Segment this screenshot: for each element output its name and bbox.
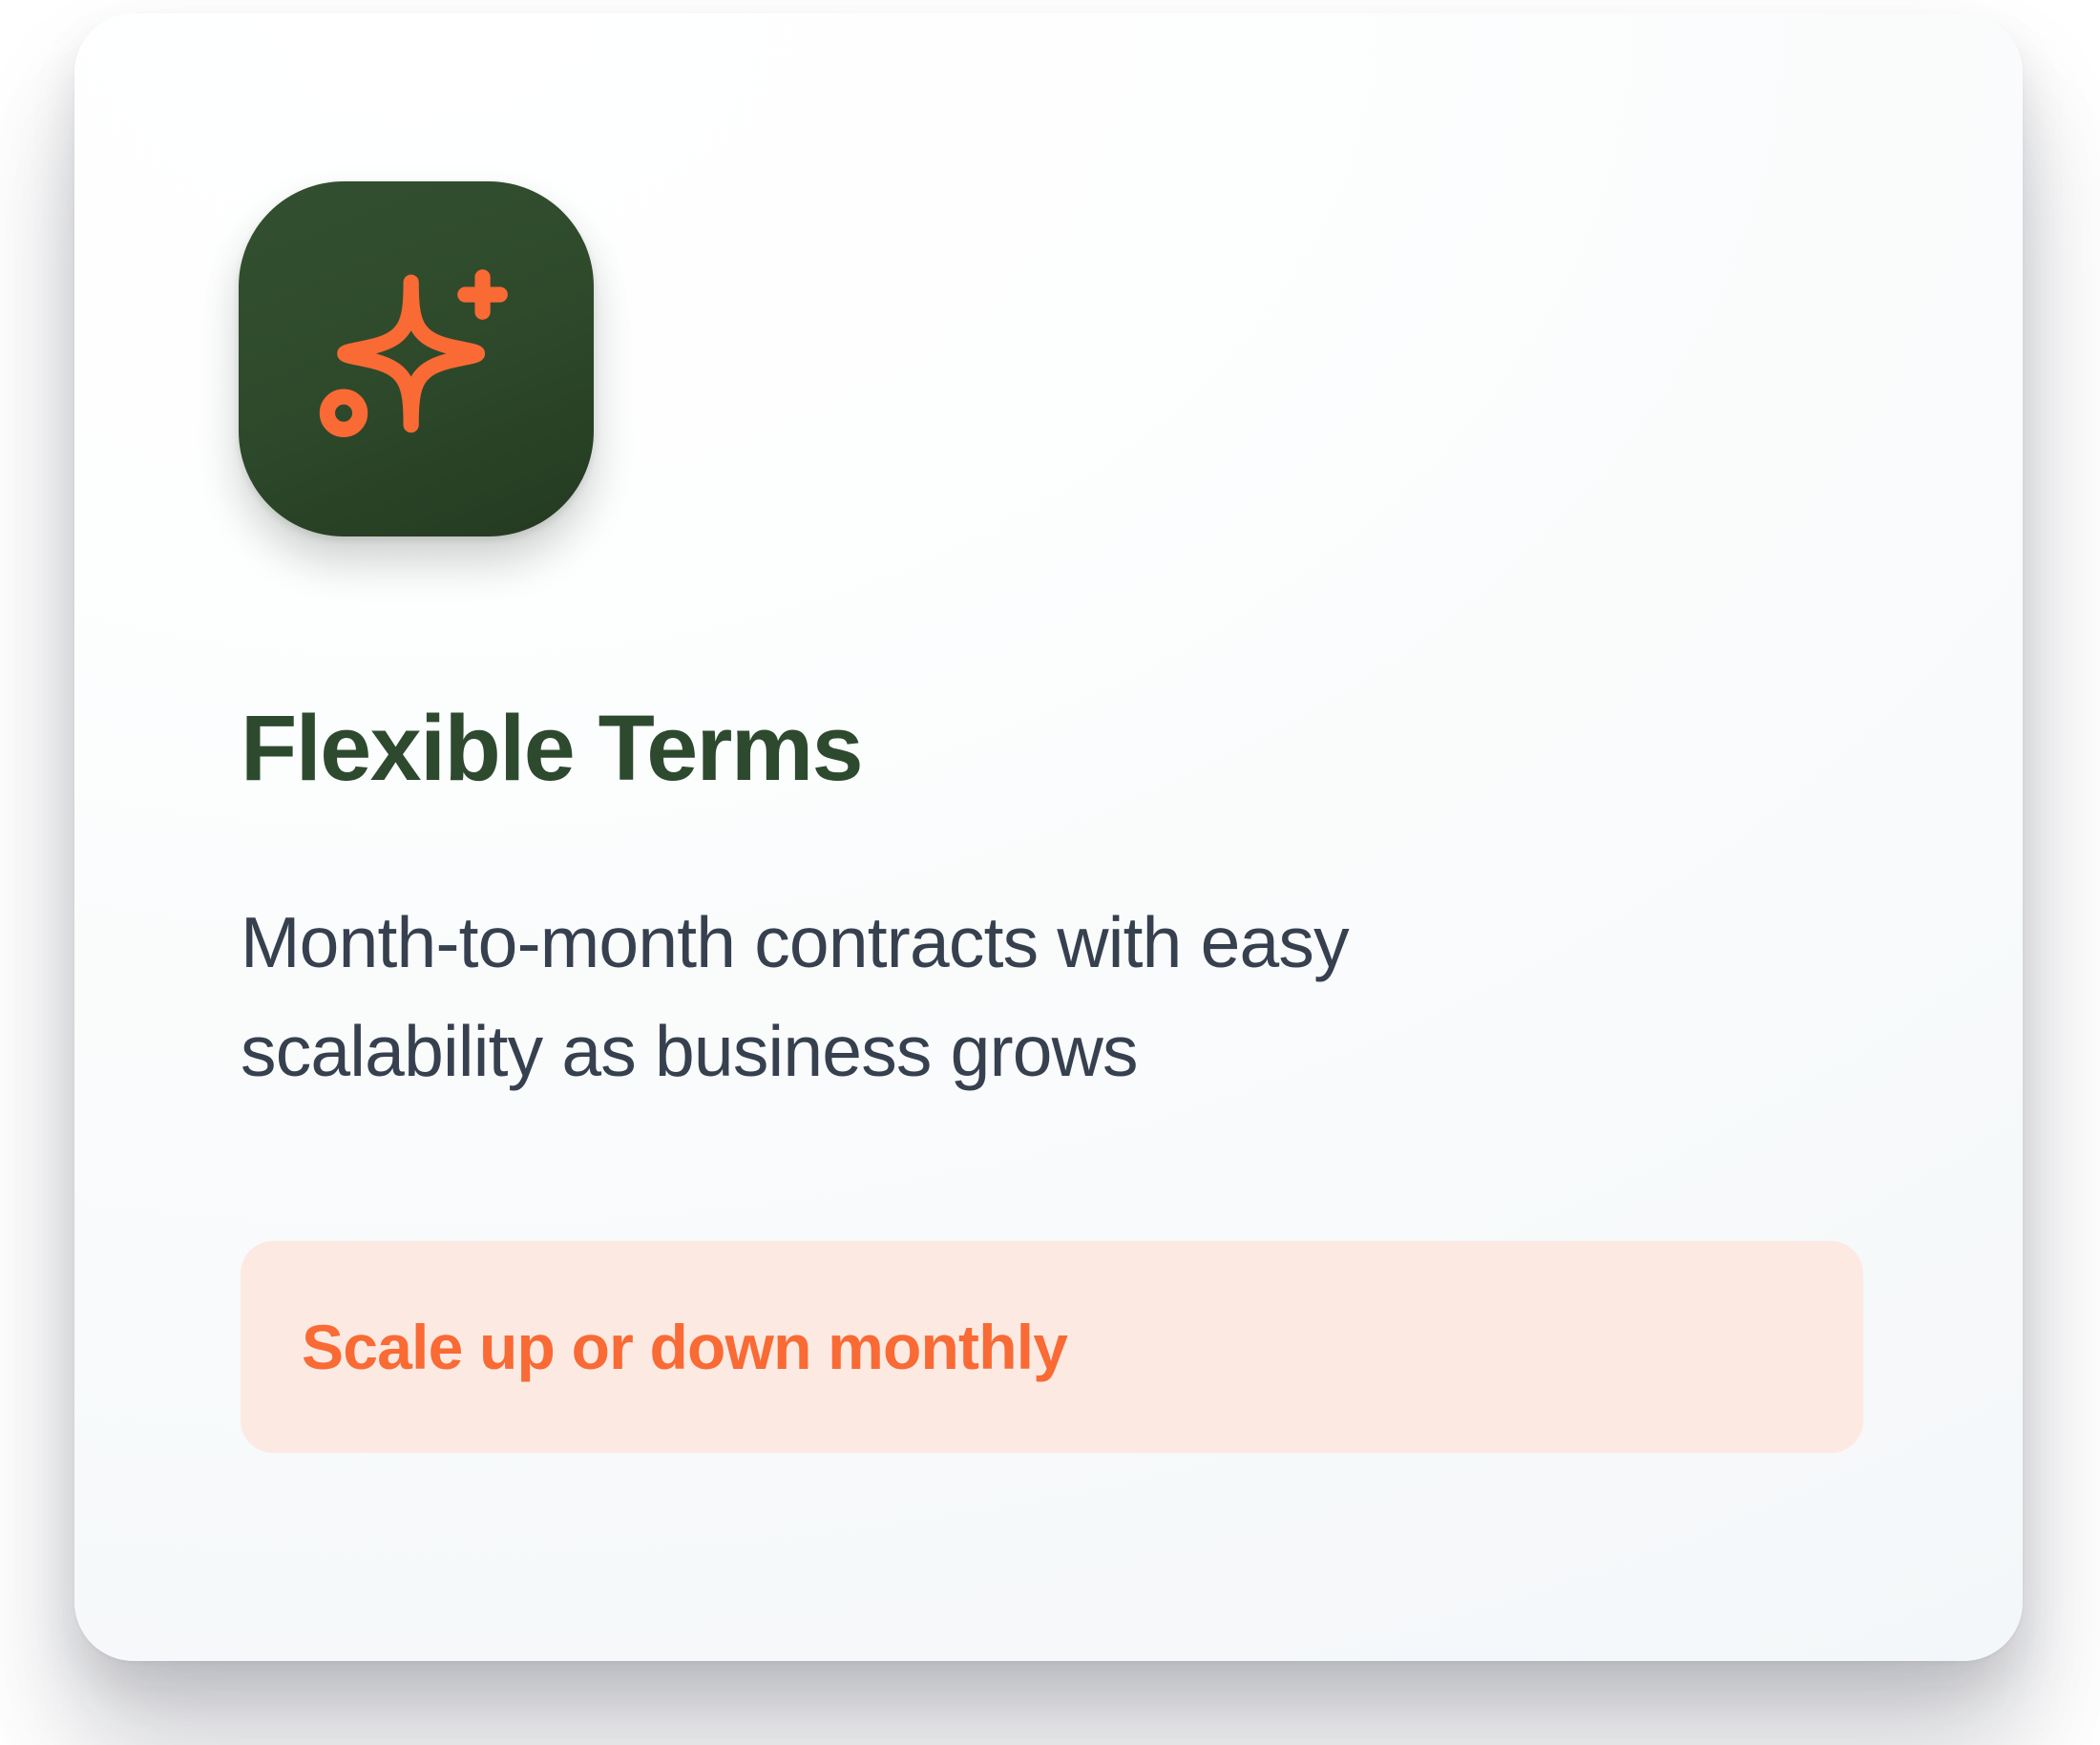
feature-card-title: Flexible Terms xyxy=(241,702,862,794)
highlight-pill-label: Scale up or down monthly xyxy=(302,1315,1067,1378)
sparkle-plus-icon xyxy=(314,257,518,461)
feature-card[interactable]: Flexible Terms Month-to-month contracts … xyxy=(74,13,2023,1661)
highlight-pill[interactable]: Scale up or down monthly xyxy=(241,1241,1863,1453)
ring-circle xyxy=(327,397,360,430)
feature-card-description: Month-to-month contracts with easy scala… xyxy=(241,888,1653,1105)
feature-card-content: Flexible Terms Month-to-month contracts … xyxy=(239,181,2023,1661)
screenshot-canvas: Flexible Terms Month-to-month contracts … xyxy=(0,0,2100,1745)
sparkle-plus-icon-tile xyxy=(239,181,594,536)
